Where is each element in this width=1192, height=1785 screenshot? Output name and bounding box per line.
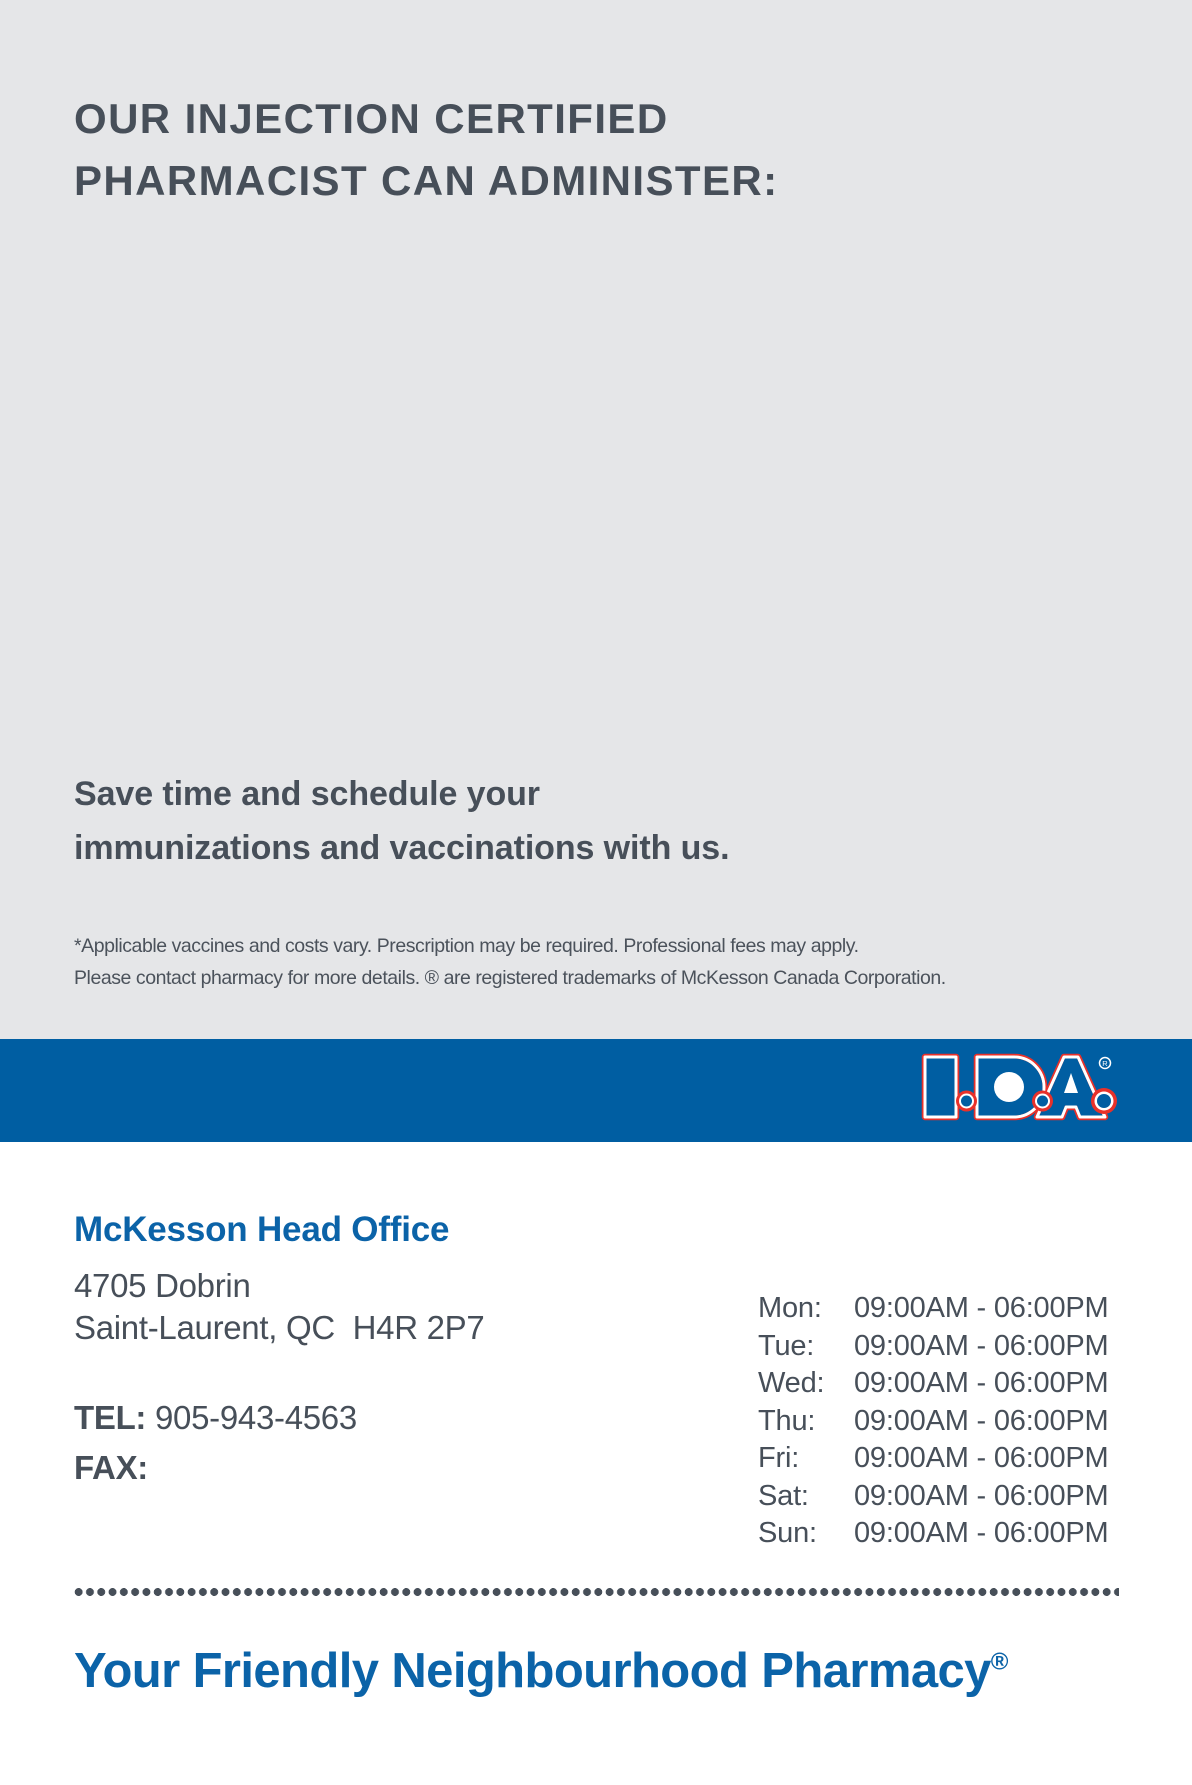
svg-text:R: R <box>1102 1059 1108 1068</box>
fax-row: FAX: <box>74 1443 357 1493</box>
hours-day-label: Sat: <box>758 1478 854 1516</box>
disclaimer-line-2: Please contact pharmacy for more details… <box>74 962 1134 994</box>
disclaimer-text: *Applicable vaccines and costs vary. Pre… <box>74 930 1134 994</box>
fax-label: FAX: <box>74 1449 148 1486</box>
store-hours-table: Mon: 09:00AM - 06:00PM Tue: 09:00AM - 06… <box>758 1290 1158 1553</box>
telephone-spacer <box>146 1399 155 1436</box>
tagline: Your Friendly Neighbourhood Pharmacy® <box>74 1640 1008 1702</box>
store-address: 4705 Dobrin Saint-Laurent, QC H4R 2P7 <box>74 1265 484 1349</box>
tagline-text: Your Friendly Neighbourhood Pharmacy <box>74 1644 991 1698</box>
store-contact-numbers: TEL: 905-943-4563 FAX: <box>74 1393 357 1493</box>
headline-line-1: OUR INJECTION CERTIFIED <box>74 88 1034 150</box>
hours-day-label: Thu: <box>758 1403 854 1441</box>
fax-spacer <box>148 1449 157 1486</box>
hours-row: Thu: 09:00AM - 06:00PM <box>758 1403 1158 1441</box>
hours-time-value: 09:00AM - 06:00PM <box>854 1478 1109 1516</box>
flyer-page: OUR INJECTION CERTIFIED PHARMACIST CAN A… <box>0 0 1192 1785</box>
telephone-row: TEL: 905-943-4563 <box>74 1393 357 1443</box>
hours-row: Sat: 09:00AM - 06:00PM <box>758 1478 1158 1516</box>
hours-row: Wed: 09:00AM - 06:00PM <box>758 1365 1158 1403</box>
hours-time-value: 09:00AM - 06:00PM <box>854 1515 1109 1553</box>
subheading-line-2: immunizations and vaccinations with us. <box>74 821 974 875</box>
hours-day-label: Sun: <box>758 1515 854 1553</box>
hours-row: Sun: 09:00AM - 06:00PM <box>758 1515 1158 1553</box>
subheading: Save time and schedule your immunization… <box>74 767 974 875</box>
hours-time-value: 09:00AM - 06:00PM <box>854 1403 1109 1441</box>
hours-day-label: Mon: <box>758 1290 854 1328</box>
hours-day-label: Tue: <box>758 1328 854 1366</box>
hours-time-value: 09:00AM - 06:00PM <box>854 1440 1109 1478</box>
store-name: McKesson Head Office <box>74 1209 449 1251</box>
page-title: OUR INJECTION CERTIFIED PHARMACIST CAN A… <box>74 88 1034 212</box>
telephone-value[interactable]: 905-943-4563 <box>155 1399 357 1436</box>
hours-time-value: 09:00AM - 06:00PM <box>854 1328 1109 1366</box>
address-line-2: Saint-Laurent, QC H4R 2P7 <box>74 1307 484 1349</box>
hours-row: Mon: 09:00AM - 06:00PM <box>758 1290 1158 1328</box>
hours-time-value: 09:00AM - 06:00PM <box>854 1365 1109 1403</box>
disclaimer-line-1: *Applicable vaccines and costs vary. Pre… <box>74 930 1134 962</box>
telephone-label: TEL: <box>74 1399 146 1436</box>
ida-logo: R <box>921 1047 1117 1127</box>
subheading-line-1: Save time and schedule your <box>74 767 974 821</box>
hours-day-label: Wed: <box>758 1365 854 1403</box>
address-line-1: 4705 Dobrin <box>74 1265 484 1307</box>
hours-row: Fri: 09:00AM - 06:00PM <box>758 1440 1158 1478</box>
hours-time-value: 09:00AM - 06:00PM <box>854 1290 1109 1328</box>
dotted-divider <box>73 1588 1119 1596</box>
registered-trademark-icon: ® <box>991 1649 1009 1676</box>
hours-day-label: Fri: <box>758 1440 854 1478</box>
top-grey-panel: OUR INJECTION CERTIFIED PHARMACIST CAN A… <box>0 0 1192 1039</box>
headline-line-2: PHARMACIST CAN ADMINISTER: <box>74 150 1034 212</box>
hours-row: Tue: 09:00AM - 06:00PM <box>758 1328 1158 1366</box>
